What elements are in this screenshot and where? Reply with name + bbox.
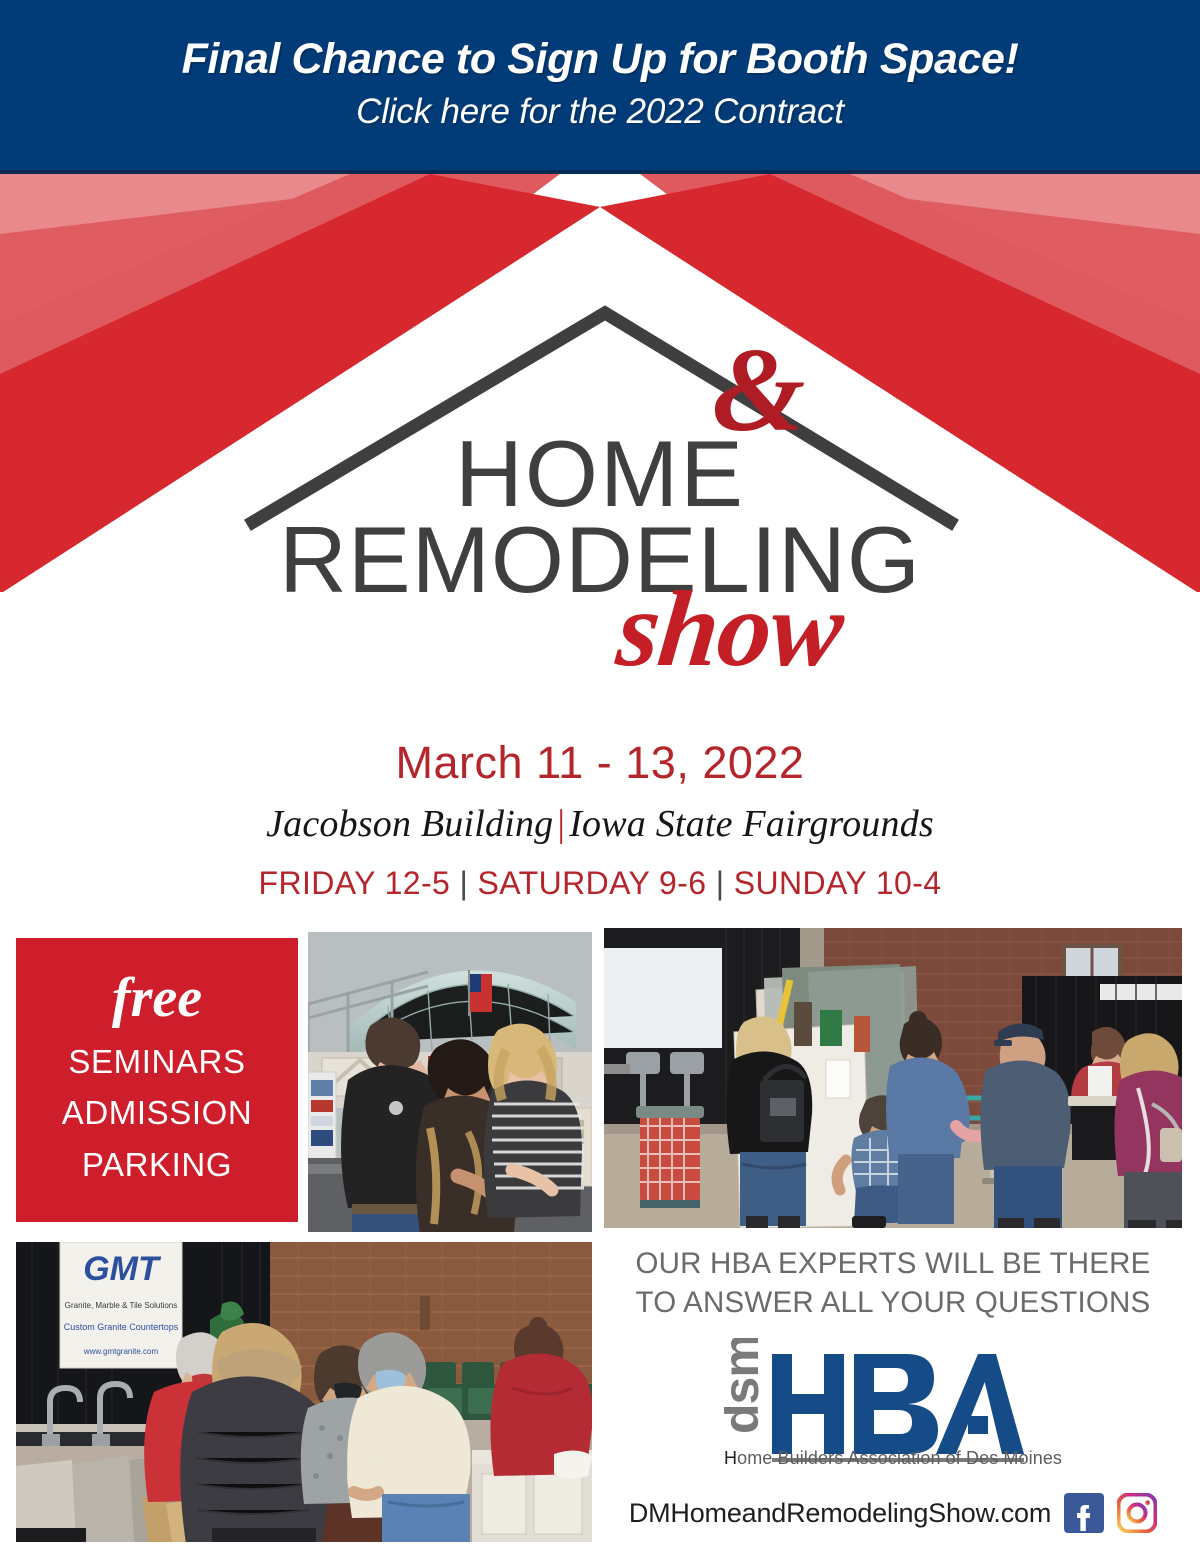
hours-friday: FRIDAY 12-5 <box>259 865 451 901</box>
venue-grounds: Iowa State Fairgrounds <box>569 803 934 845</box>
venue-building: Jacobson Building <box>266 803 553 845</box>
website-url[interactable]: DMHomeandRemodelingShow.com <box>629 1498 1051 1529</box>
venue-divider: | <box>553 803 569 845</box>
instagram-icon[interactable] <box>1117 1493 1157 1533</box>
free-offer-box: free SEMINARS ADMISSION PARKING <box>16 938 298 1222</box>
photo-counter: GMT Granite, Marble & Tile Solutions Cus… <box>16 1242 592 1542</box>
event-venue: Jacobson Building|Iowa State Fairgrounds <box>0 799 1200 850</box>
event-dates: March 11 - 13, 2022 <box>0 735 1200 791</box>
facebook-icon[interactable] <box>1064 1493 1104 1533</box>
free-item-parking: PARKING <box>82 1139 232 1190</box>
hba-tagline-rest: ome Builders Association of Des Moines <box>737 1448 1062 1468</box>
hours-saturday: SATURDAY 9-6 <box>478 865 707 901</box>
event-logo: HOME REMODELING & show <box>0 300 1200 720</box>
flyer-page: Final Chance to Sign Up for Booth Space!… <box>0 0 1200 1558</box>
event-hours: FRIDAY 12-5 | SATURDAY 9-6 | SUNDAY 10-4 <box>0 863 1200 905</box>
experts-line-2: TO ANSWER ALL YOUR QUESTIONS <box>604 1284 1182 1323</box>
svg-text:www.gmtgranite.com: www.gmtgranite.com <box>83 1347 159 1356</box>
hba-tagline: Home Builders Association of Des Moines <box>604 1448 1182 1469</box>
svg-text:GMT: GMT <box>83 1250 162 1288</box>
signup-banner[interactable]: Final Chance to Sign Up for Booth Space!… <box>0 0 1200 174</box>
experts-line-1: OUR HBA EXPERTS WILL BE THERE <box>604 1245 1182 1284</box>
banner-headline: Final Chance to Sign Up for Booth Space! <box>182 37 1019 83</box>
logo-ampersand: & <box>712 330 805 450</box>
banner-subline-link[interactable]: Click here for the 2022 Contract <box>356 91 844 133</box>
photo-expo <box>308 932 592 1232</box>
event-details: March 11 - 13, 2022 Jacobson Building|Io… <box>0 735 1200 904</box>
hba-tagline-cap: H <box>724 1448 737 1468</box>
logo-wordmark: HOME REMODELING <box>0 428 1200 608</box>
svg-text:Granite, Marble & Tile Solutio: Granite, Marble & Tile Solutions <box>65 1301 178 1310</box>
hours-separator-2: | <box>716 865 725 901</box>
hours-separator-1: | <box>460 865 469 901</box>
footer: DMHomeandRemodelingShow.com <box>604 1487 1182 1539</box>
free-item-admission: ADMISSION <box>62 1087 253 1138</box>
svg-text:Custom Granite Countertops: Custom Granite Countertops <box>64 1322 179 1332</box>
photo-hall <box>604 928 1182 1228</box>
hours-sunday: SUNDAY 10-4 <box>734 865 942 901</box>
free-script-word: free <box>112 970 202 1026</box>
experts-message: OUR HBA EXPERTS WILL BE THERE TO ANSWER … <box>604 1245 1182 1323</box>
svg-text:dsm: dsm <box>724 1338 769 1434</box>
logo-remodeling-text: REMODELING <box>0 512 1200 608</box>
free-item-seminars: SEMINARS <box>68 1036 245 1087</box>
